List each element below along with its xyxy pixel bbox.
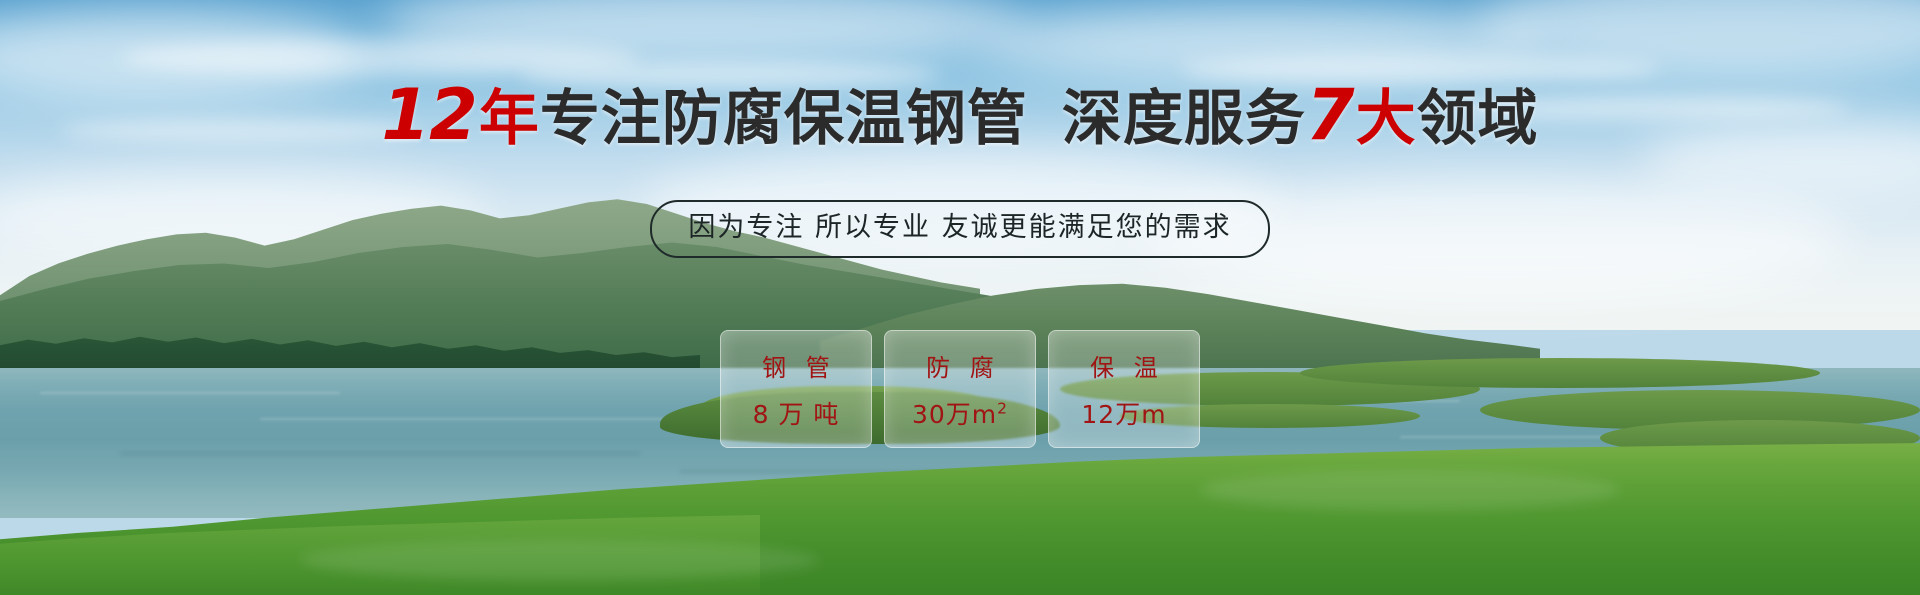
stat-card-value: 30万m2	[912, 395, 1008, 431]
stat-card-title: 钢 管	[756, 348, 836, 383]
stat-card-value: 12万m	[1081, 395, 1166, 431]
hero-banner: 12年专注防腐保温钢管深度服务7大领域 因为专注 所以专业 友诚更能满足您的需求…	[0, 0, 1920, 595]
headline-years-number: 12	[381, 74, 478, 156]
stat-card-value-text: 12万m	[1081, 400, 1166, 429]
subtitle-wrapper: 因为专注 所以专业 友诚更能满足您的需求	[0, 200, 1920, 258]
headline-part-two: 深度服务	[1062, 84, 1306, 154]
headline-highlight-number: 7	[1306, 74, 1356, 156]
stat-card-value: 8 万 吨	[753, 395, 840, 431]
stat-cards: 钢 管 8 万 吨 防 腐 30万m2 保 温 12万m	[0, 330, 1920, 448]
headline: 12年专注防腐保温钢管深度服务7大领域	[0, 80, 1920, 150]
banner-content: 12年专注防腐保温钢管深度服务7大领域 因为专注 所以专业 友诚更能满足您的需求…	[0, 0, 1920, 595]
headline-part-three: 领域	[1417, 84, 1539, 154]
stat-card[interactable]: 保 温 12万m	[1048, 330, 1200, 448]
stat-card-value-sup: 2	[997, 399, 1008, 417]
stat-card-value-text: 30万m	[912, 400, 997, 429]
subtitle-pill: 因为专注 所以专业 友诚更能满足您的需求	[650, 200, 1269, 258]
stat-card-value-text: 8 万 吨	[753, 400, 840, 429]
stat-card[interactable]: 防 腐 30万m2	[884, 330, 1036, 448]
stat-card-title: 保 温	[1084, 348, 1164, 383]
stat-card-title: 防 腐	[920, 348, 1000, 383]
headline-highlight-unit: 大	[1356, 84, 1417, 154]
headline-years-unit: 年	[479, 84, 540, 154]
stat-card[interactable]: 钢 管 8 万 吨	[720, 330, 872, 448]
headline-part-one: 专注防腐保温钢管	[540, 84, 1028, 154]
